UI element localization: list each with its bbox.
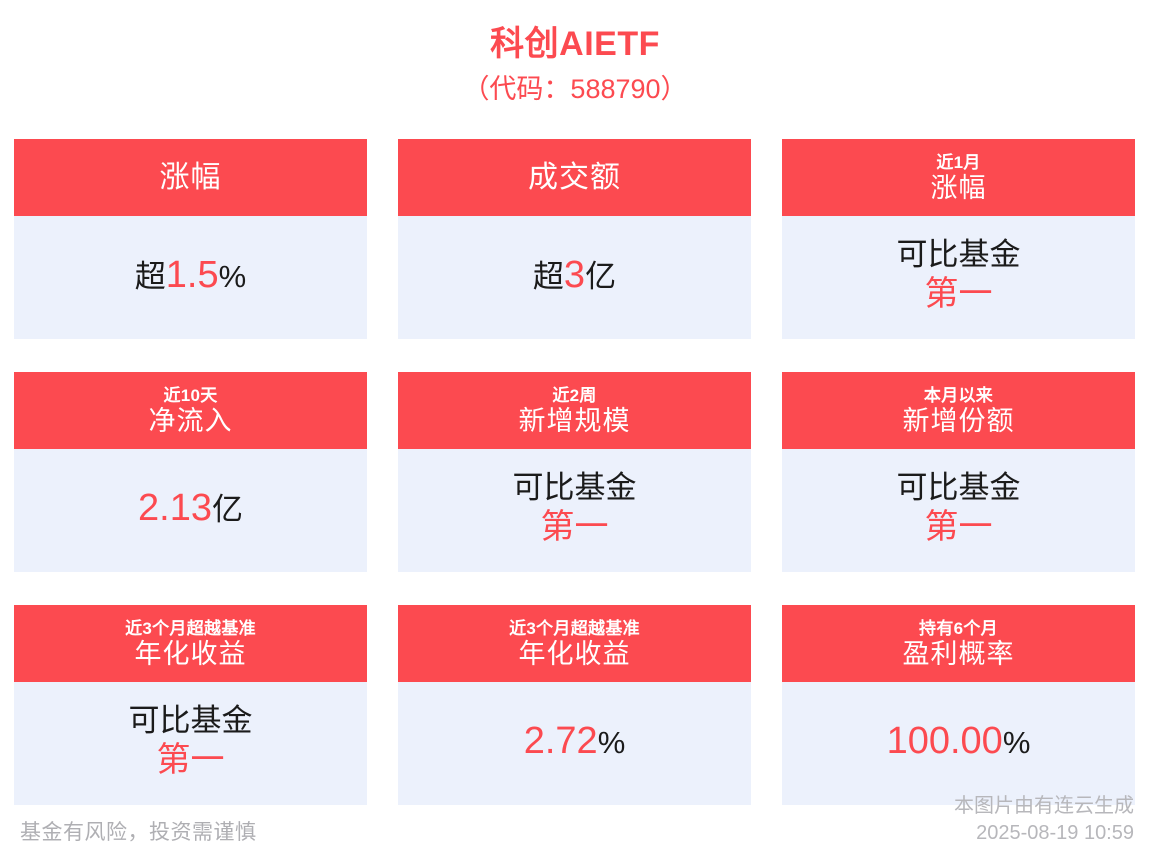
metric-value-highlight: 第一: [925, 507, 993, 547]
metric-card-header-label: 年化收益: [135, 639, 247, 669]
metric-value-number: 1.5: [166, 254, 219, 296]
metric-card-body: 2.72%: [398, 682, 751, 805]
metric-value-number: 3: [564, 254, 585, 296]
metric-value-highlight: 第一: [925, 274, 993, 314]
metric-card-body: 可比基金第一: [398, 449, 751, 572]
metric-value-unit: %: [598, 725, 626, 760]
metric-card: 近1月涨幅可比基金第一: [782, 139, 1135, 339]
metric-card-header: 近10天净流入: [14, 372, 367, 449]
metric-card: 本月以来新增份额可比基金第一: [782, 372, 1135, 572]
metric-value-primary: 可比基金: [513, 470, 637, 507]
metric-card-header: 近3个月超越基准年化收益: [398, 605, 751, 682]
metric-card-header-sublabel: 近10天: [163, 386, 217, 405]
infographic-page: 科创AIETF （代码：588790） 涨幅超1.5%成交额超3亿近1月涨幅可比…: [0, 0, 1150, 860]
metric-card-header-label: 涨幅: [160, 161, 222, 195]
metric-value-primary: 可比基金: [897, 237, 1021, 274]
metric-card-header-sublabel: 近1月: [936, 153, 980, 172]
metric-value-primary: 可比基金: [129, 703, 253, 740]
risk-disclaimer: 基金有风险，投资需谨慎: [20, 819, 257, 846]
metric-value-highlight: 第一: [541, 507, 609, 547]
metric-value-line: 100.00%: [887, 719, 1031, 764]
metric-card-header-label: 年化收益: [519, 639, 631, 669]
metric-value-prefix: 超: [135, 259, 166, 294]
metric-card-header-label: 新增规模: [519, 406, 631, 436]
metric-card: 近10天净流入2.13亿: [14, 372, 367, 572]
credit-source: 本图片由有连云生成: [954, 793, 1134, 819]
metric-value-line: 超1.5%: [135, 253, 246, 298]
metric-card-header-label: 成交额: [528, 161, 621, 195]
metric-card-header: 近3个月超越基准年化收益: [14, 605, 367, 682]
metric-card: 持有6个月盈利概率100.00%: [782, 605, 1135, 805]
metric-card-header: 涨幅: [14, 139, 367, 216]
metric-value-number: 2.13: [138, 487, 212, 529]
metric-card-body: 可比基金第一: [14, 682, 367, 805]
metric-card-body: 可比基金第一: [782, 449, 1135, 572]
metric-card-body: 可比基金第一: [782, 216, 1135, 339]
metric-value-unit: 亿: [212, 492, 243, 527]
metric-card-body: 超1.5%: [14, 216, 367, 339]
metric-card: 成交额超3亿: [398, 139, 751, 339]
metric-value-number: 2.72: [524, 720, 598, 762]
metric-card-header: 本月以来新增份额: [782, 372, 1135, 449]
metric-value-unit: %: [219, 259, 247, 294]
page-title: 科创AIETF: [0, 22, 1150, 67]
metric-card-body: 2.13亿: [14, 449, 367, 572]
metric-card-header-sublabel: 近3个月超越基准: [125, 619, 256, 638]
metric-card-header-sublabel: 近3个月超越基准: [509, 619, 640, 638]
metric-card-header-label: 涨幅: [931, 173, 987, 203]
metric-card: 近3个月超越基准年化收益2.72%: [398, 605, 751, 805]
metric-card-header: 近1月涨幅: [782, 139, 1135, 216]
metric-value-unit: 亿: [585, 259, 616, 294]
footer: 基金有风险，投资需谨慎 本图片由有连云生成 2025-08-19 10:59: [0, 790, 1150, 860]
metric-card: 近2周新增规模可比基金第一: [398, 372, 751, 572]
metric-card-grid: 涨幅超1.5%成交额超3亿近1月涨幅可比基金第一近10天净流入2.13亿近2周新…: [14, 139, 1136, 805]
metric-card: 近3个月超越基准年化收益可比基金第一: [14, 605, 367, 805]
fund-code-label: （代码：588790）: [0, 71, 1150, 109]
credit-timestamp: 2025-08-19 10:59: [954, 820, 1134, 846]
metric-card-header: 成交额: [398, 139, 751, 216]
metric-card-header-sublabel: 近2周: [552, 386, 596, 405]
metric-card-header-label: 净流入: [149, 406, 233, 436]
metric-card: 涨幅超1.5%: [14, 139, 367, 339]
metric-card-header: 持有6个月盈利概率: [782, 605, 1135, 682]
metric-value-unit: %: [1003, 725, 1031, 760]
metric-card-header-sublabel: 本月以来: [924, 386, 993, 405]
metric-card-header: 近2周新增规模: [398, 372, 751, 449]
metric-value-primary: 可比基金: [897, 470, 1021, 507]
metric-value-number: 100.00: [887, 720, 1003, 762]
metric-card-header-sublabel: 持有6个月: [919, 619, 998, 638]
title-block: 科创AIETF （代码：588790）: [0, 0, 1150, 109]
metric-value-line: 超3亿: [533, 253, 616, 298]
metric-card-body: 100.00%: [782, 682, 1135, 805]
metric-value-line: 2.13亿: [138, 486, 243, 531]
metric-value-prefix: 超: [533, 259, 564, 294]
generation-credit: 本图片由有连云生成 2025-08-19 10:59: [954, 793, 1134, 846]
metric-card-body: 超3亿: [398, 216, 751, 339]
metric-card-header-label: 新增份额: [903, 406, 1015, 436]
metric-card-header-label: 盈利概率: [903, 639, 1015, 669]
metric-value-line: 2.72%: [524, 719, 626, 764]
metric-value-highlight: 第一: [157, 740, 225, 780]
